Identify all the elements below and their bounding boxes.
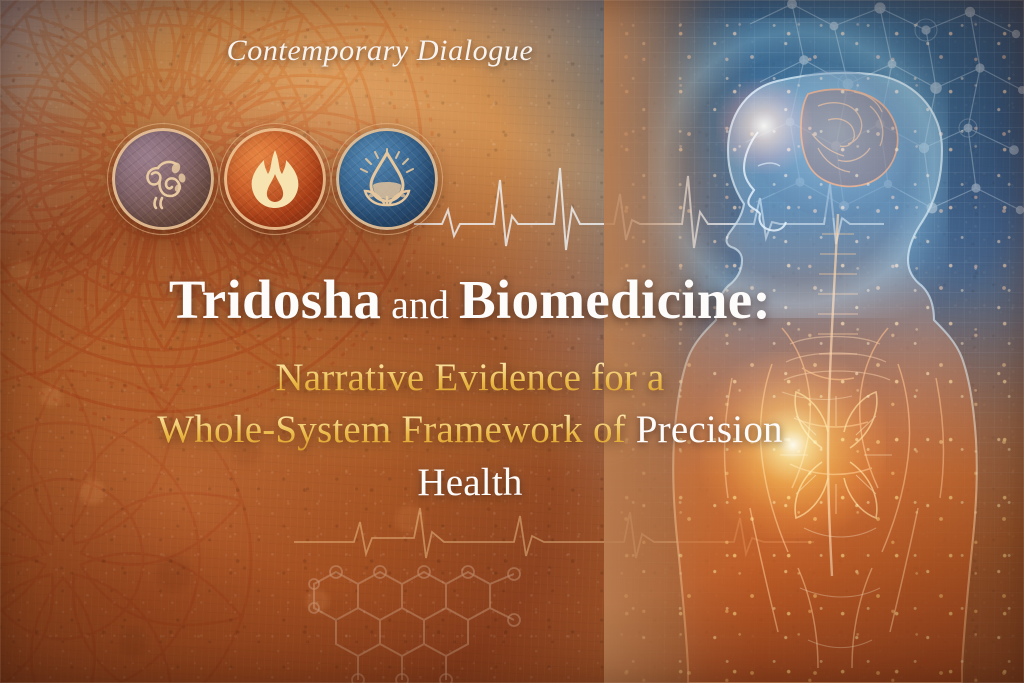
water-droplet-icon xyxy=(355,147,419,211)
eyebrow-text: Contemporary Dialogue xyxy=(0,34,1024,68)
badge-pitta[interactable] xyxy=(224,128,326,230)
subtitle-line-3: Health xyxy=(0,457,940,509)
page-subtitle: Narrative Evidence for a Whole-System Fr… xyxy=(0,352,1024,509)
subtitle-line-2-white-text: Precision xyxy=(636,408,783,451)
flame-icon xyxy=(246,148,304,210)
title-conjunction: and xyxy=(381,282,459,327)
dosha-badge-group xyxy=(112,128,438,230)
subtitle-line-2: Whole-System Framework of Precision xyxy=(0,404,940,456)
page-title: Tridosha and Biomedicine: xyxy=(0,272,1024,328)
badge-kapha[interactable] xyxy=(336,128,438,230)
title-part-one: Tridosha xyxy=(169,269,381,330)
title-part-two: Biomedicine: xyxy=(459,269,771,330)
poster-canvas: Contemporary Dialogue xyxy=(0,0,1024,683)
badge-vata[interactable] xyxy=(112,128,214,230)
air-spiral-icon xyxy=(132,148,194,210)
subtitle-line-1-text: Narrative Evidence for a xyxy=(275,356,664,399)
subtitle-line-3-text: Health xyxy=(417,461,522,504)
subtitle-line-1: Narrative Evidence for a xyxy=(0,352,940,404)
subtitle-line-2-gold-text: Whole-System Framework of xyxy=(157,408,636,451)
poster-content: Contemporary Dialogue xyxy=(0,0,1024,683)
